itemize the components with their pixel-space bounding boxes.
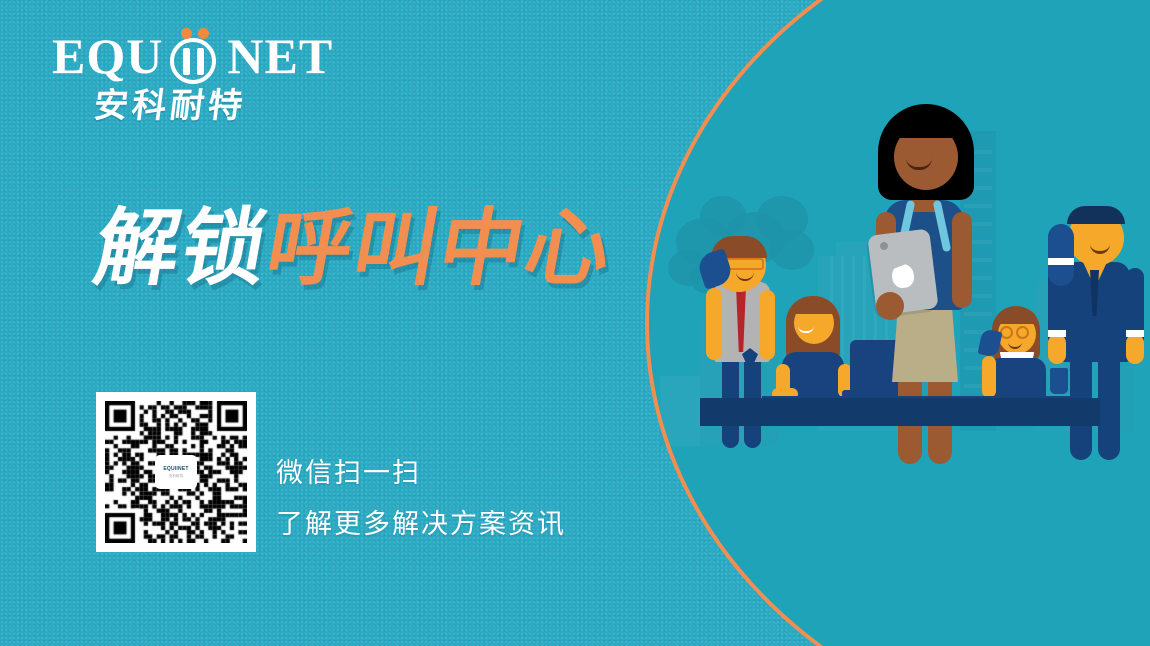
man-glasses-right-arm <box>760 290 775 360</box>
seated-woman-hair-front <box>792 298 836 314</box>
desk-cup <box>1050 368 1068 394</box>
brand-logo-text-part1: EQU <box>52 31 163 81</box>
smiley-stem-right <box>197 48 204 75</box>
qr-badge-subtitle: 安科耐特 <box>169 473 183 478</box>
seated-glasses-spectacles-right <box>1016 326 1029 339</box>
wechat-qr-code[interactable]: EQUIINET 安科耐特 <box>96 392 256 552</box>
seated-glasses-torso <box>988 358 1046 400</box>
seated-glasses-spectacles-left <box>1000 326 1013 339</box>
man-glasses-left-arm <box>706 288 722 360</box>
headline-white-text: 解锁 <box>88 201 277 295</box>
smiley-dot-right <box>198 28 209 39</box>
smiley-circle <box>170 38 216 84</box>
skyline-building <box>660 376 700 446</box>
headline-orange-text: 呼叫中心 <box>260 201 621 295</box>
seated-glasses-arm <box>982 356 996 398</box>
qr-badge-title: EQUIINET <box>163 466 188 472</box>
businessman-cuff-right <box>1126 330 1144 337</box>
smiley-stem-left <box>183 48 190 75</box>
desk-counter-front <box>700 398 1100 426</box>
cta-line-1: 微信扫一扫 <box>276 448 566 499</box>
promotional-banner: EQU NET 安科耐特 解锁呼叫中心 EQUIINET 安科耐特 微信扫一扫 <box>0 0 1150 646</box>
page-title: 解锁呼叫中心 <box>89 206 620 290</box>
call-to-action-text: 微信扫一扫 了解更多解决方案资讯 <box>276 448 566 551</box>
businessman-right-leg <box>1098 352 1120 460</box>
tablet-woman-right-arm <box>952 212 972 308</box>
brand-logo-chinese: 安科耐特 <box>92 88 355 125</box>
smoke-cloud <box>770 230 814 270</box>
businessman-cuff-left <box>1048 330 1066 337</box>
businessman-left-hand <box>1048 334 1066 364</box>
businessman-phone-cuff <box>1048 258 1074 265</box>
brand-logo-text-part2: NET <box>227 31 333 81</box>
qr-center-logo-badge: EQUIINET 安科耐特 <box>155 455 197 489</box>
tablet-woman-hand <box>876 292 904 320</box>
businessman-hair <box>1067 206 1125 224</box>
qr-code-image: EQUIINET 安科耐特 <box>105 401 247 543</box>
businessman-phone-handset <box>1048 224 1074 286</box>
equiinet-smiley-mark-icon <box>164 28 226 84</box>
businessman-right-hand <box>1126 334 1144 364</box>
brand-logo: EQU NET 安科耐特 <box>52 28 352 125</box>
cta-line-2: 了解更多解决方案资讯 <box>276 499 566 550</box>
seated-glasses-hair-front <box>996 308 1038 324</box>
brand-logo-wordmark: EQU NET <box>52 28 352 84</box>
